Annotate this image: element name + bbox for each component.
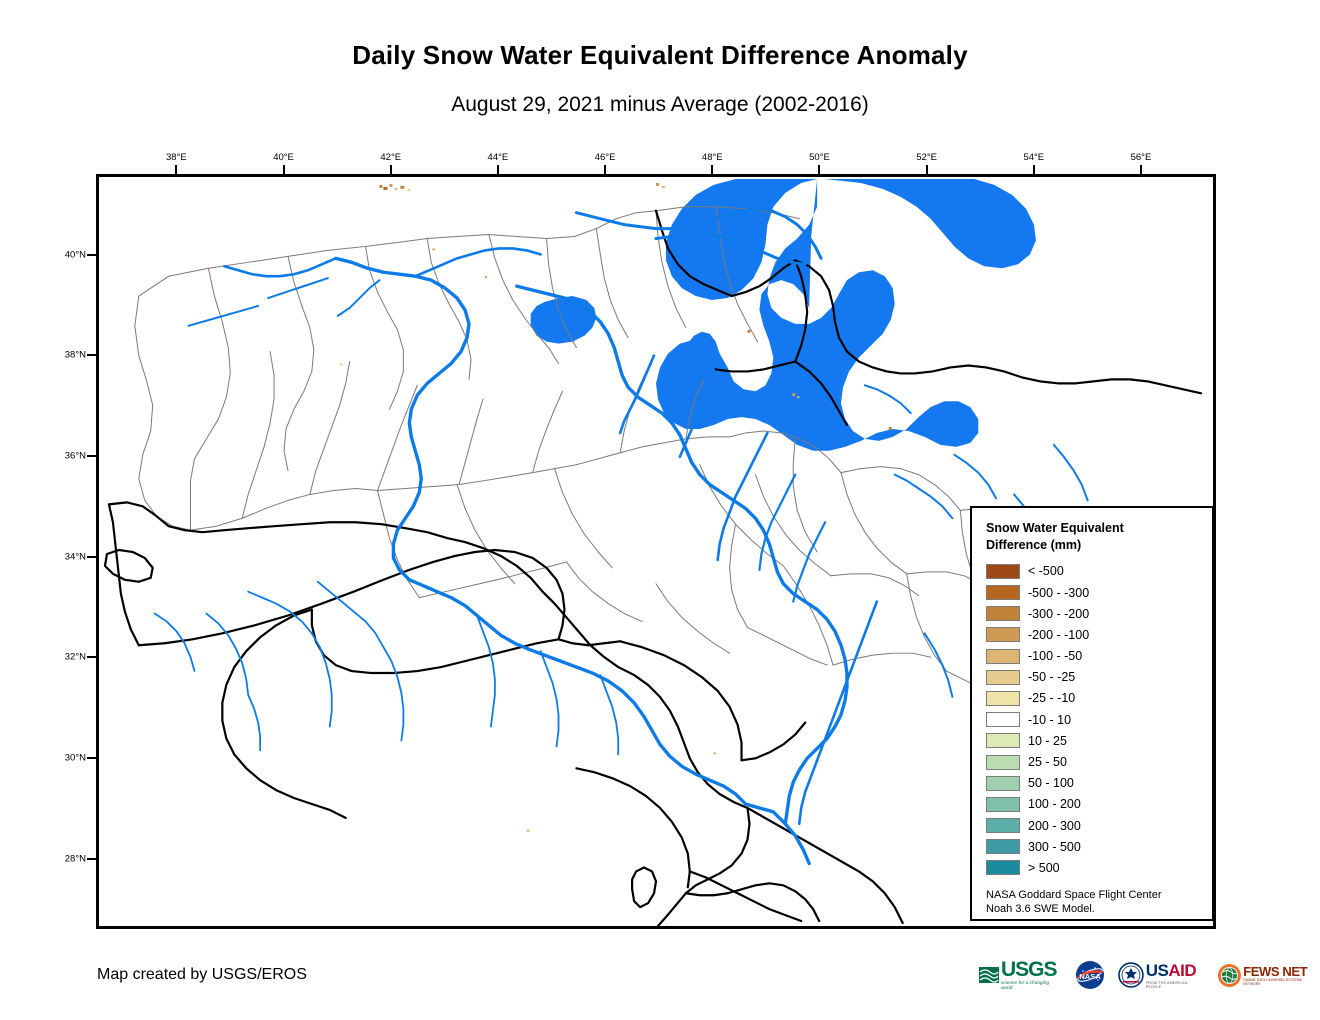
- fewsnet-logo-text: FEWS NET: [1243, 965, 1320, 978]
- usaid-logo-text-us: US: [1146, 961, 1169, 981]
- legend-swatch: [986, 691, 1020, 706]
- legend-row: -100 - -50: [986, 646, 1202, 667]
- legend-label: 25 - 50: [1028, 755, 1067, 769]
- cyprus: [105, 550, 153, 582]
- legend-swatch: [986, 860, 1020, 875]
- wadi-4: [383, 647, 403, 740]
- jordan-iraq-saudi: [139, 550, 565, 645]
- legend-swatch: [986, 818, 1020, 833]
- longitude-label: 44°E: [488, 152, 509, 163]
- longitude-label: 46°E: [595, 152, 616, 163]
- longitude-label: 42°E: [380, 152, 401, 163]
- longitude-tick: [711, 165, 713, 174]
- persian-gulf-coast-north: [686, 883, 819, 921]
- latitude-label: 40°N: [48, 249, 86, 260]
- legend-label: -100 - -50: [1028, 649, 1082, 663]
- legend-row: -10 - 10: [986, 709, 1202, 730]
- legend-label: 300 - 500: [1028, 840, 1081, 854]
- usgs-logo[interactable]: USGS science for a changing world: [978, 960, 1062, 990]
- map-legend: Snow Water Equivalent Difference (mm) < …: [970, 506, 1214, 921]
- map-credit: Map created by USGS/EROS: [97, 966, 307, 984]
- legend-swatch: [986, 797, 1020, 812]
- legend-row: -25 - -10: [986, 688, 1202, 709]
- legend-row: 10 - 25: [986, 730, 1202, 751]
- usaid-seal-icon: [1118, 962, 1144, 988]
- legend-row: 50 - 100: [986, 773, 1202, 794]
- iraq-iran-south: [686, 808, 750, 893]
- legend-label: -25 - -10: [1028, 691, 1075, 705]
- longitude-label: 52°E: [916, 152, 937, 163]
- latitude-tick: [87, 656, 96, 658]
- legend-entries: < -500-500 - -300-300 - -200-200 - -100-…: [986, 561, 1202, 879]
- wadi-1: [318, 582, 384, 647]
- latitude-tick: [87, 254, 96, 256]
- iraq-iran-border: [543, 592, 748, 808]
- legend-swatch: [986, 839, 1020, 854]
- legend-label: < -500: [1028, 564, 1064, 578]
- legend-label: -10 - 10: [1028, 713, 1071, 727]
- longitude-tick: [926, 165, 928, 174]
- iran-river-4: [1054, 445, 1088, 501]
- legend-row: 25 - 50: [986, 751, 1202, 772]
- usgs-logo-subtext: science for a changing world: [1001, 980, 1062, 990]
- longitude-tick: [390, 165, 392, 174]
- wadi-6: [248, 695, 260, 751]
- legend-row: 100 - 200: [986, 794, 1202, 815]
- longitude-label: 40°E: [273, 152, 294, 163]
- latitude-label: 36°N: [48, 450, 86, 461]
- page-title: Daily Snow Water Equivalent Difference A…: [0, 40, 1320, 71]
- legend-label: -300 - -200: [1028, 607, 1089, 621]
- nasa-meatball-icon: NASA: [1075, 960, 1105, 990]
- legend-label: 10 - 25: [1028, 734, 1067, 748]
- legend-swatch: [986, 755, 1020, 770]
- latitude-label: 32°N: [48, 652, 86, 663]
- iran-river-1: [895, 475, 953, 519]
- legend-label: 50 - 100: [1028, 776, 1074, 790]
- longitude-tick: [604, 165, 606, 174]
- longitude-label: 54°E: [1023, 152, 1044, 163]
- saudi-kuwait-iraq: [620, 641, 741, 760]
- caspian-northeast-arm: [825, 179, 1036, 268]
- gulf-coast-arabian-side: [576, 768, 689, 887]
- latitude-label: 28°N: [48, 853, 86, 864]
- legend-label: 100 - 200: [1028, 797, 1081, 811]
- usgs-wave-icon: [978, 964, 1000, 986]
- latitude-tick: [87, 858, 96, 860]
- legend-swatch: [986, 564, 1020, 579]
- latitude-tick: [87, 556, 96, 558]
- legend-swatch: [986, 627, 1020, 642]
- latitude-label: 34°N: [48, 551, 86, 562]
- iran-river-2: [954, 455, 996, 499]
- wadi-8: [541, 651, 559, 746]
- latitude-label: 38°N: [48, 350, 86, 361]
- agency-logo-bar: USGS science for a changing world NASA U…: [978, 958, 1320, 992]
- latitude-tick: [87, 354, 96, 356]
- legend-row: < -500: [986, 561, 1202, 582]
- tigris-trib-e2: [793, 522, 825, 601]
- legend-label: -200 - -100: [1028, 628, 1089, 642]
- kuwait-coast: [742, 723, 806, 761]
- longitude-label: 50°E: [809, 152, 830, 163]
- iran-river-6: [925, 633, 953, 696]
- murat-river: [224, 258, 335, 276]
- arabia-gulf-coast: [658, 893, 686, 926]
- legend-swatch: [986, 670, 1020, 685]
- legend-row: 200 - 300: [986, 815, 1202, 836]
- legend-row: -200 - -100: [986, 624, 1202, 645]
- turkey-trib-3: [189, 306, 259, 326]
- fewsnet-logo[interactable]: FEWS NET FAMINE EARLY WARNING SYSTEMS NE…: [1217, 960, 1320, 990]
- legend-row: -50 - -25: [986, 667, 1202, 688]
- legend-label: -500 - -300: [1028, 586, 1089, 600]
- legend-label: > 500: [1028, 861, 1060, 875]
- karasu-river: [415, 248, 540, 276]
- fewsnet-globe-icon: [1217, 963, 1242, 988]
- legend-swatch: [986, 776, 1020, 791]
- persian-gulf-iran-coast: [748, 808, 903, 923]
- nasa-logo[interactable]: NASA: [1075, 960, 1105, 990]
- longitude-label: 56°E: [1131, 152, 1152, 163]
- legend-swatch: [986, 649, 1020, 664]
- iran-turkmenistan-east: [915, 365, 1201, 393]
- usaid-logo-text-aid: AID: [1168, 961, 1196, 981]
- usgs-logo-text: USGS: [1001, 960, 1062, 980]
- longitude-tick: [497, 165, 499, 174]
- longitude-tick: [1140, 165, 1142, 174]
- nasa-logo-text: NASA: [1079, 972, 1101, 981]
- legend-swatch: [986, 585, 1020, 600]
- usaid-logo-subtext: FROM THE AMERICAN PEOPLE: [1146, 981, 1205, 989]
- saudi-border-west: [312, 610, 559, 673]
- latitude-tick: [87, 757, 96, 759]
- legend-row: > 500: [986, 857, 1202, 878]
- wadi-7: [477, 615, 495, 726]
- turkey-trib-2: [338, 280, 380, 316]
- legend-row: -500 - -300: [986, 582, 1202, 603]
- longitude-tick: [175, 165, 177, 174]
- legend-label: 200 - 300: [1028, 819, 1081, 833]
- legend-swatch: [986, 606, 1020, 621]
- rivers: [155, 209, 1088, 864]
- longitude-tick: [283, 165, 285, 174]
- page-subtitle: August 29, 2021 minus Average (2002-2016…: [0, 93, 1320, 117]
- legend-swatch: [986, 733, 1020, 748]
- fewsnet-logo-subtext: FAMINE EARLY WARNING SYSTEMS NETWORK: [1243, 978, 1320, 986]
- longitude-tick: [1033, 165, 1035, 174]
- legend-source-note: NASA Goddard Space Flight Center Noah 3.…: [986, 888, 1202, 918]
- saudi-south-edge: [222, 610, 345, 818]
- usaid-logo[interactable]: USAID FROM THE AMERICAN PEOPLE: [1118, 960, 1204, 990]
- legend-swatch: [986, 712, 1020, 727]
- legend-row: 300 - 500: [986, 836, 1202, 857]
- qatar-peninsula: [632, 867, 656, 907]
- legend-title: Snow Water Equivalent Difference (mm): [986, 520, 1202, 554]
- longitude-tick: [818, 165, 820, 174]
- latitude-tick: [87, 455, 96, 457]
- longitude-label: 48°E: [702, 152, 723, 163]
- legend-label: -50 - -25: [1028, 670, 1075, 684]
- legend-row: -300 - -200: [986, 603, 1202, 624]
- longitude-label: 38°E: [166, 152, 187, 163]
- latitude-label: 30°N: [48, 752, 86, 763]
